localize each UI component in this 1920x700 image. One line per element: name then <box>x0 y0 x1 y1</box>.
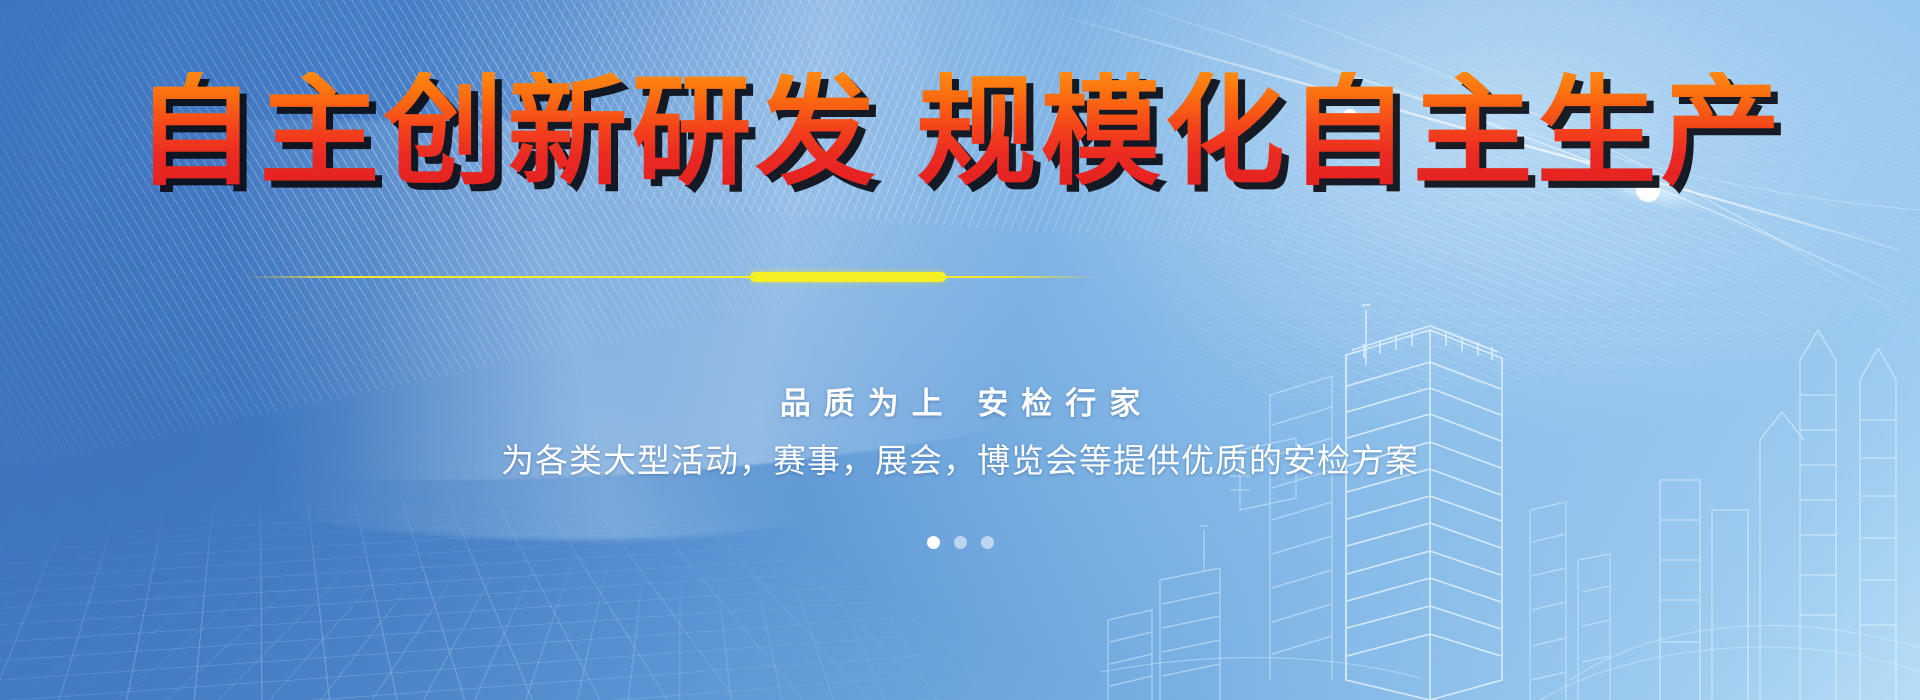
description-text: 为各类大型活动，赛事，展会，博览会等提供优质的安检方案 <box>0 434 1920 482</box>
divider-thin-line <box>245 276 1100 278</box>
divider <box>0 268 1920 286</box>
carousel-dot-1[interactable] <box>927 536 940 549</box>
page-title: 自主创新研发 规模化自主生产 <box>0 72 1920 192</box>
hero-banner: 自主创新研发 规模化自主生产 品质为上 安检行家 为各类大型活动，赛事，展会，博… <box>0 0 1920 700</box>
slogan-text: 品质为上 安检行家 <box>0 378 1920 423</box>
divider-accent-bar <box>750 272 946 282</box>
carousel-dot-2[interactable] <box>954 536 967 549</box>
carousel-indicators[interactable] <box>0 536 1920 549</box>
carousel-dot-3[interactable] <box>981 536 994 549</box>
banner-content: 自主创新研发 规模化自主生产 品质为上 安检行家 为各类大型活动，赛事，展会，博… <box>0 0 1920 700</box>
